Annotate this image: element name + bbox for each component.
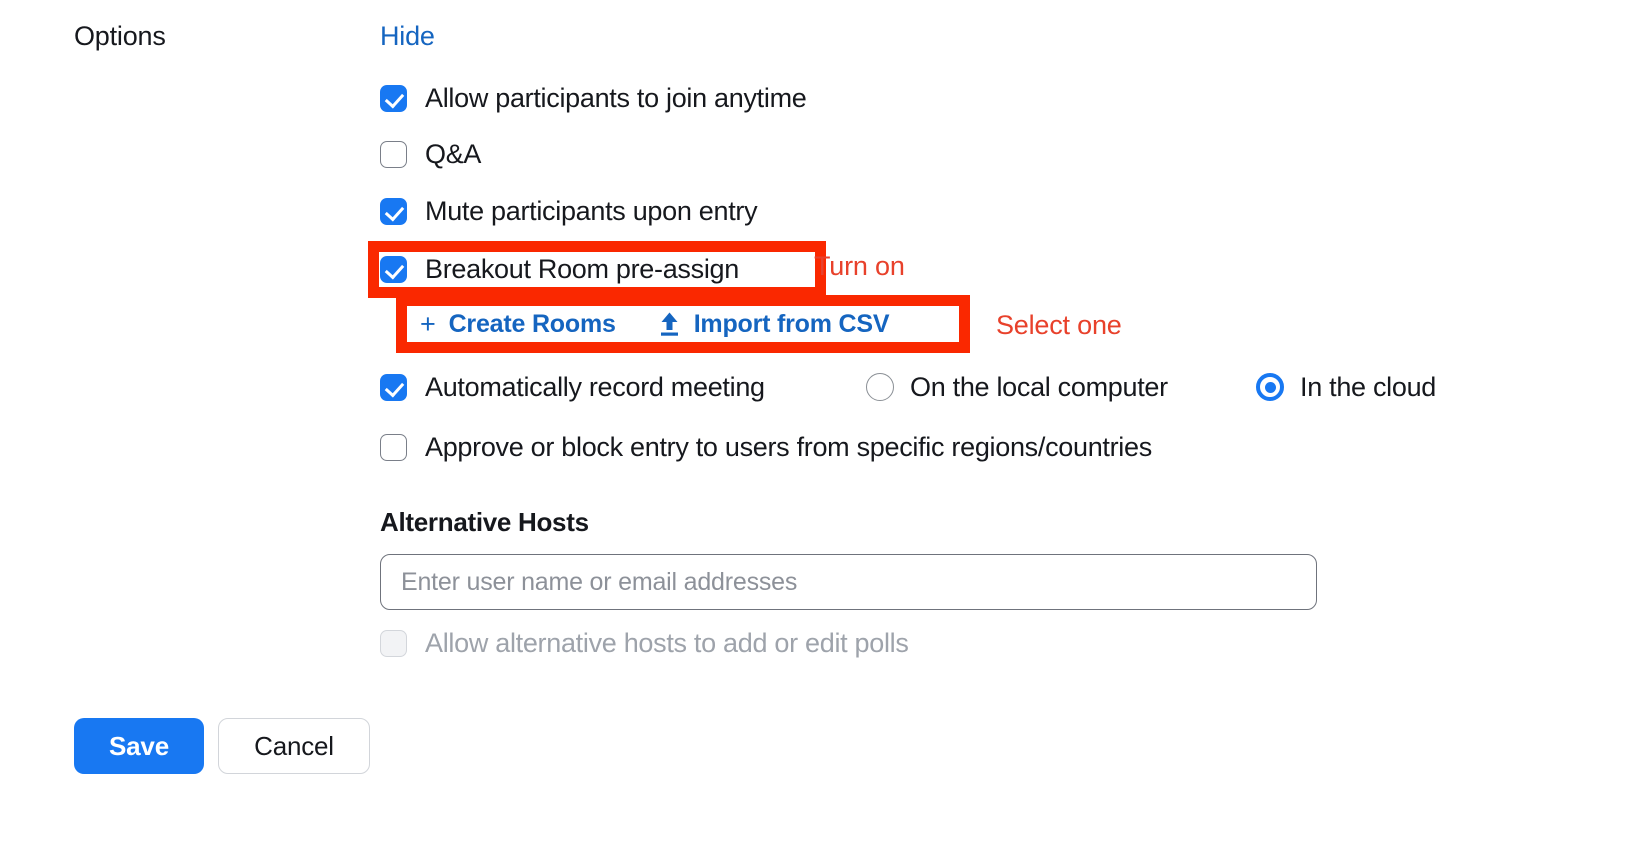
options-hide-link[interactable]: Hide [380,20,435,53]
alternative-hosts-input[interactable] [380,554,1317,610]
option-label-mute-on-entry: Mute participants upon entry [425,196,757,226]
option-label-auto-record: Automatically record meeting [425,372,765,402]
import-from-csv-button[interactable]: Import from CSV [658,309,890,339]
checkbox-join-anytime[interactable] [380,85,407,112]
checkbox-mute-on-entry[interactable] [380,198,407,225]
option-label-breakout-preassign: Breakout Room pre-assign [425,254,739,284]
annotation-text-turn-on: Turn on [814,250,905,282]
option-row-mute-on-entry[interactable]: Mute participants upon entry [380,196,757,226]
option-row-approve-block-regions[interactable]: Approve or block entry to users from spe… [380,432,1152,462]
option-row-alt-hosts-edit-polls: Allow alternative hosts to add or edit p… [380,628,909,658]
checkbox-breakout-preassign[interactable] [380,256,407,283]
checkbox-alt-hosts-edit-polls [380,630,407,657]
upload-icon [658,311,681,337]
cancel-button[interactable]: Cancel [218,718,370,774]
option-label-approve-block-regions: Approve or block entry to users from spe… [425,432,1152,462]
radio-label-in-the-cloud: In the cloud [1300,372,1436,402]
checkbox-auto-record[interactable] [380,374,407,401]
annotation-text-select-one: Select one [996,309,1122,341]
plus-icon: + [420,311,436,338]
radio-option-in-the-cloud[interactable]: In the cloud [1256,372,1436,402]
option-row-auto-record[interactable]: Automatically record meeting [380,372,765,402]
create-rooms-label: Create Rooms [449,309,616,339]
option-label-join-anytime: Allow participants to join anytime [425,83,807,113]
create-rooms-button[interactable]: + Create Rooms [420,309,616,339]
option-row-breakout-preassign[interactable]: Breakout Room pre-assign [380,254,739,284]
import-from-csv-label: Import from CSV [694,309,890,339]
page-title: Options [74,20,166,53]
option-row-qa[interactable]: Q&A [380,139,481,169]
option-row-join-anytime[interactable]: Allow participants to join anytime [380,83,807,113]
option-label-alt-hosts-edit-polls: Allow alternative hosts to add or edit p… [425,628,909,658]
save-button[interactable]: Save [74,718,204,774]
breakout-room-actions: + Create Rooms Import from CSV [420,307,889,341]
checkbox-qa[interactable] [380,141,407,168]
alternative-hosts-heading: Alternative Hosts [380,506,589,538]
radio-label-local-computer: On the local computer [910,372,1168,402]
radio-option-local-computer[interactable]: On the local computer [866,372,1168,402]
radio-in-the-cloud[interactable] [1256,373,1284,401]
option-label-qa: Q&A [425,139,481,169]
radio-local-computer[interactable] [866,373,894,401]
checkbox-approve-block-regions[interactable] [380,434,407,461]
